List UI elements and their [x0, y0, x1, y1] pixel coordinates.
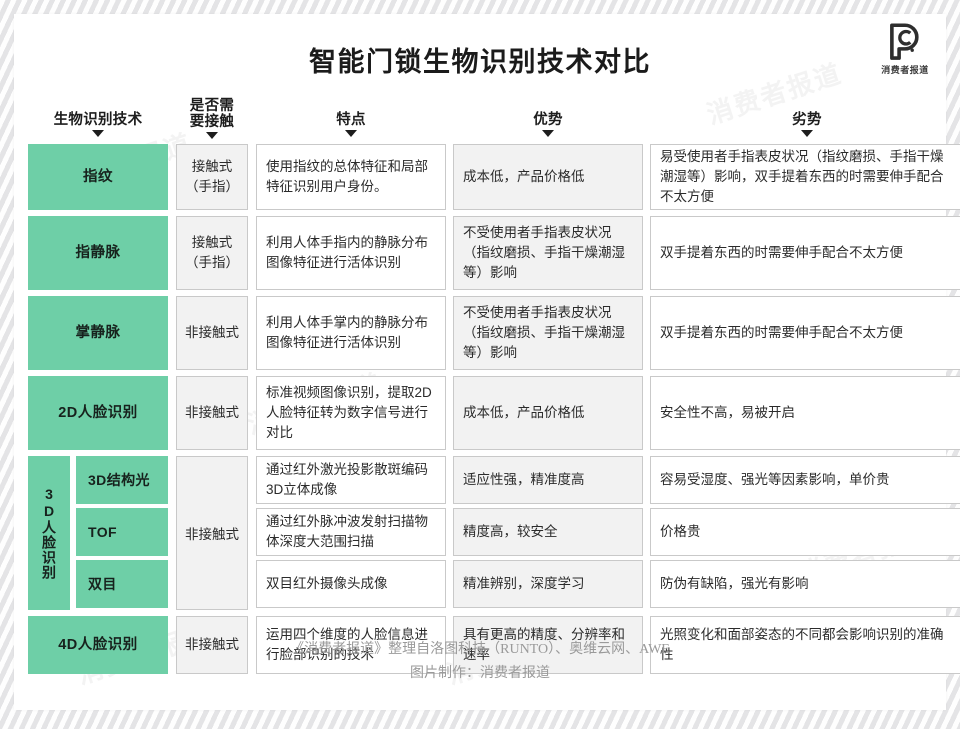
infographic-card: 消费者报道 消费者报道 消费者报道 消费者报道 消费者报道 消费者报道 消费者报…	[14, 14, 946, 710]
row-touch-line1: 接触式	[192, 233, 233, 253]
subrow-feature: 双目红外摄像头成像	[256, 560, 446, 608]
caret-down-icon	[345, 130, 357, 137]
source-line-1: 《消费者报道》整理自洛图科技（RUNTO）、奥维云网、AWE	[14, 638, 946, 662]
table-row: 掌静脉 非接触式 利用人体手掌内的静脉分布图像特征进行活体识别 不受使用者手指表…	[28, 294, 950, 372]
column-header-row: 生物识别技术 是否需 要接触 特点 优势 劣势	[28, 98, 950, 142]
subrow-technology-name: TOF	[76, 508, 168, 556]
group-label-3d: 3D人脸识别	[28, 456, 70, 610]
row-technology-name: 指静脉	[28, 216, 168, 290]
caret-down-icon	[92, 130, 104, 137]
row-touch-line2: （手指）	[185, 177, 239, 197]
brand-logo: 消费者报道	[872, 20, 938, 86]
column-header-touch-line1: 是否需	[176, 98, 248, 114]
column-header-pro-label: 优势	[453, 112, 643, 128]
row-disadvantage: 双手提着东西的时需要伸手配合不太方便	[650, 296, 960, 370]
subrow-advantage: 适应性强，精准度高	[453, 456, 643, 504]
subrow-advantage: 精度高，较安全	[453, 508, 643, 556]
subrow-feature: 通过红外脉冲波发射扫描物体深度大范围扫描	[256, 508, 446, 556]
column-header-con-label: 劣势	[650, 112, 960, 128]
row-touch-line2: （手指）	[185, 253, 239, 273]
table-row: 2D人脸识别 非接触式 标准视频图像识别，提取2D人脸特征转为数字信号进行对比 …	[28, 374, 950, 452]
table-row: 指静脉 接触式 （手指） 利用人体手指内的静脉分布图像特征进行活体识别 不受使用…	[28, 214, 950, 292]
row-advantage: 成本低，产品价格低	[453, 144, 643, 210]
caret-down-icon	[206, 132, 218, 139]
subrow-disadvantage: 容易受湿度、强光等因素影响，单价贵	[650, 456, 960, 504]
row-touch-type: 非接触式	[176, 376, 248, 450]
caret-down-icon	[801, 130, 813, 137]
column-header-name: 生物识别技术	[28, 112, 168, 137]
subrow-disadvantage: 防伪有缺陷，强光有影响	[650, 560, 960, 608]
group-touch-type: 非接触式	[176, 456, 248, 610]
column-header-touch-line2: 要接触	[176, 114, 248, 130]
subrow-technology-name: 双目	[76, 560, 168, 608]
pc-circle-logo-icon	[884, 20, 926, 62]
column-header-touch: 是否需 要接触	[176, 98, 248, 139]
subrow-disadvantage: 价格贵	[650, 508, 960, 556]
row-touch-line1: 接触式	[192, 157, 233, 177]
column-header-feature-label: 特点	[256, 112, 446, 128]
table-row-group-3d: 3D人脸识别 非接触式 3D结构光 通过红外激光投影散斑编码3D立体成像 适应性…	[28, 454, 950, 612]
row-advantage: 不受使用者手指表皮状况（指纹磨损、手指干燥潮湿等）影响	[453, 296, 643, 370]
row-technology-name: 掌静脉	[28, 296, 168, 370]
row-feature: 利用人体手指内的静脉分布图像特征进行活体识别	[256, 216, 446, 290]
group-label-3d-text: 3D人脸识别	[41, 486, 57, 580]
source-line-2: 图片制作：消费者报道	[14, 662, 946, 686]
row-feature: 使用指纹的总体特征和局部特征识别用户身份。	[256, 144, 446, 210]
brand-wordmark: 消费者报道	[881, 63, 929, 76]
subrow-advantage: 精准辨别，深度学习	[453, 560, 643, 608]
row-disadvantage: 安全性不高，易被开启	[650, 376, 960, 450]
row-touch-type: 接触式 （手指）	[176, 144, 248, 210]
column-header-pro: 优势	[453, 112, 643, 137]
column-header-con: 劣势	[650, 112, 960, 137]
row-advantage: 成本低，产品价格低	[453, 376, 643, 450]
row-touch-type: 非接触式	[176, 296, 248, 370]
row-advantage: 不受使用者手指表皮状况（指纹磨损、手指干燥潮湿等）影响	[453, 216, 643, 290]
subrow-feature: 通过红外激光投影散斑编码3D立体成像	[256, 456, 446, 504]
source-footer: 《消费者报道》整理自洛图科技（RUNTO）、奥维云网、AWE 图片制作：消费者报…	[14, 638, 946, 686]
table-row: 指纹 接触式 （手指） 使用指纹的总体特征和局部特征识别用户身份。 成本低，产品…	[28, 142, 950, 212]
row-disadvantage: 易受使用者手指表皮状况（指纹磨损、手指干燥潮湿等）影响，双手提着东西的时需要伸手…	[650, 144, 960, 210]
row-feature: 标准视频图像识别，提取2D人脸特征转为数字信号进行对比	[256, 376, 446, 450]
column-header-feature: 特点	[256, 112, 446, 137]
row-technology-name: 指纹	[28, 144, 168, 210]
row-touch-type: 接触式 （手指）	[176, 216, 248, 290]
row-technology-name: 2D人脸识别	[28, 376, 168, 450]
row-feature: 利用人体手掌内的静脉分布图像特征进行活体识别	[256, 296, 446, 370]
column-header-name-label: 生物识别技术	[28, 112, 168, 128]
page-title: 智能门锁生物识别技术对比	[14, 40, 946, 79]
caret-down-icon	[542, 130, 554, 137]
row-disadvantage: 双手提着东西的时需要伸手配合不太方便	[650, 216, 960, 290]
subrow-technology-name: 3D结构光	[76, 456, 168, 504]
